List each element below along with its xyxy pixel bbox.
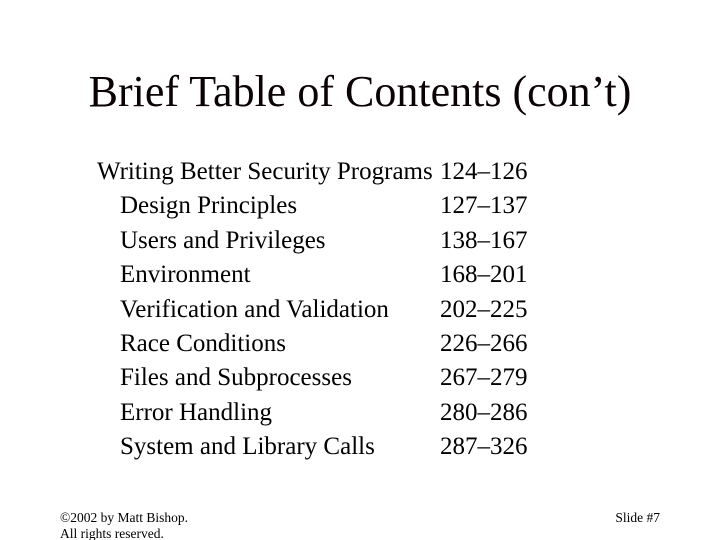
toc-entry-pages: 202–225 <box>440 293 528 327</box>
copyright-notice: ©2002 by Matt Bishop. All rights reserve… <box>60 510 188 540</box>
toc-entry-label: Files and Subprocesses <box>120 361 352 395</box>
list-item: Verification and Validation 202–225 <box>0 293 720 327</box>
toc-entry-label: Error Handling <box>120 396 272 430</box>
toc-entry-pages: 287–326 <box>440 430 528 464</box>
copyright-line-1: ©2002 by Matt Bishop. <box>60 510 188 526</box>
toc-entry-label: Race Conditions <box>120 327 286 361</box>
toc-entry-pages: 280–286 <box>440 396 528 430</box>
toc-entry-label: Writing Better Security Programs <box>97 155 433 189</box>
toc-entry-pages: 168–201 <box>440 258 528 292</box>
toc-entry-label: Verification and Validation <box>120 293 389 327</box>
list-item: Files and Subprocesses 267–279 <box>0 361 720 395</box>
toc-entry-pages: 267–279 <box>440 361 528 395</box>
toc-entry-pages: 226–266 <box>440 327 528 361</box>
toc-entry-label: Environment <box>120 258 251 292</box>
toc-entry-label: System and Library Calls <box>120 430 375 464</box>
list-item: Users and Privileges 138–167 <box>0 224 720 258</box>
copyright-line-2: All rights reserved. <box>60 526 188 540</box>
list-item: Environment 168–201 <box>0 258 720 292</box>
list-item: System and Library Calls 287–326 <box>0 430 720 464</box>
list-item: Design Principles 127–137 <box>0 189 720 223</box>
list-item: Race Conditions 226–266 <box>0 327 720 361</box>
toc-entry-label: Design Principles <box>120 189 297 223</box>
slide: Brief Table of Contents (con’t) Writing … <box>0 0 720 540</box>
toc-entry-label: Users and Privileges <box>120 224 326 258</box>
table-of-contents: Writing Better Security Programs 124–126… <box>0 155 720 465</box>
list-item: Error Handling 280–286 <box>0 396 720 430</box>
toc-entry-pages: 124–126 <box>440 155 528 189</box>
toc-entry-pages: 138–167 <box>440 224 528 258</box>
slide-number: Slide #7 <box>615 510 660 526</box>
slide-footer: ©2002 by Matt Bishop. All rights reserve… <box>0 480 720 540</box>
toc-entry-pages: 127–137 <box>440 189 528 223</box>
page-title: Brief Table of Contents (con’t) <box>0 66 720 118</box>
list-item: Writing Better Security Programs 124–126 <box>0 155 720 189</box>
